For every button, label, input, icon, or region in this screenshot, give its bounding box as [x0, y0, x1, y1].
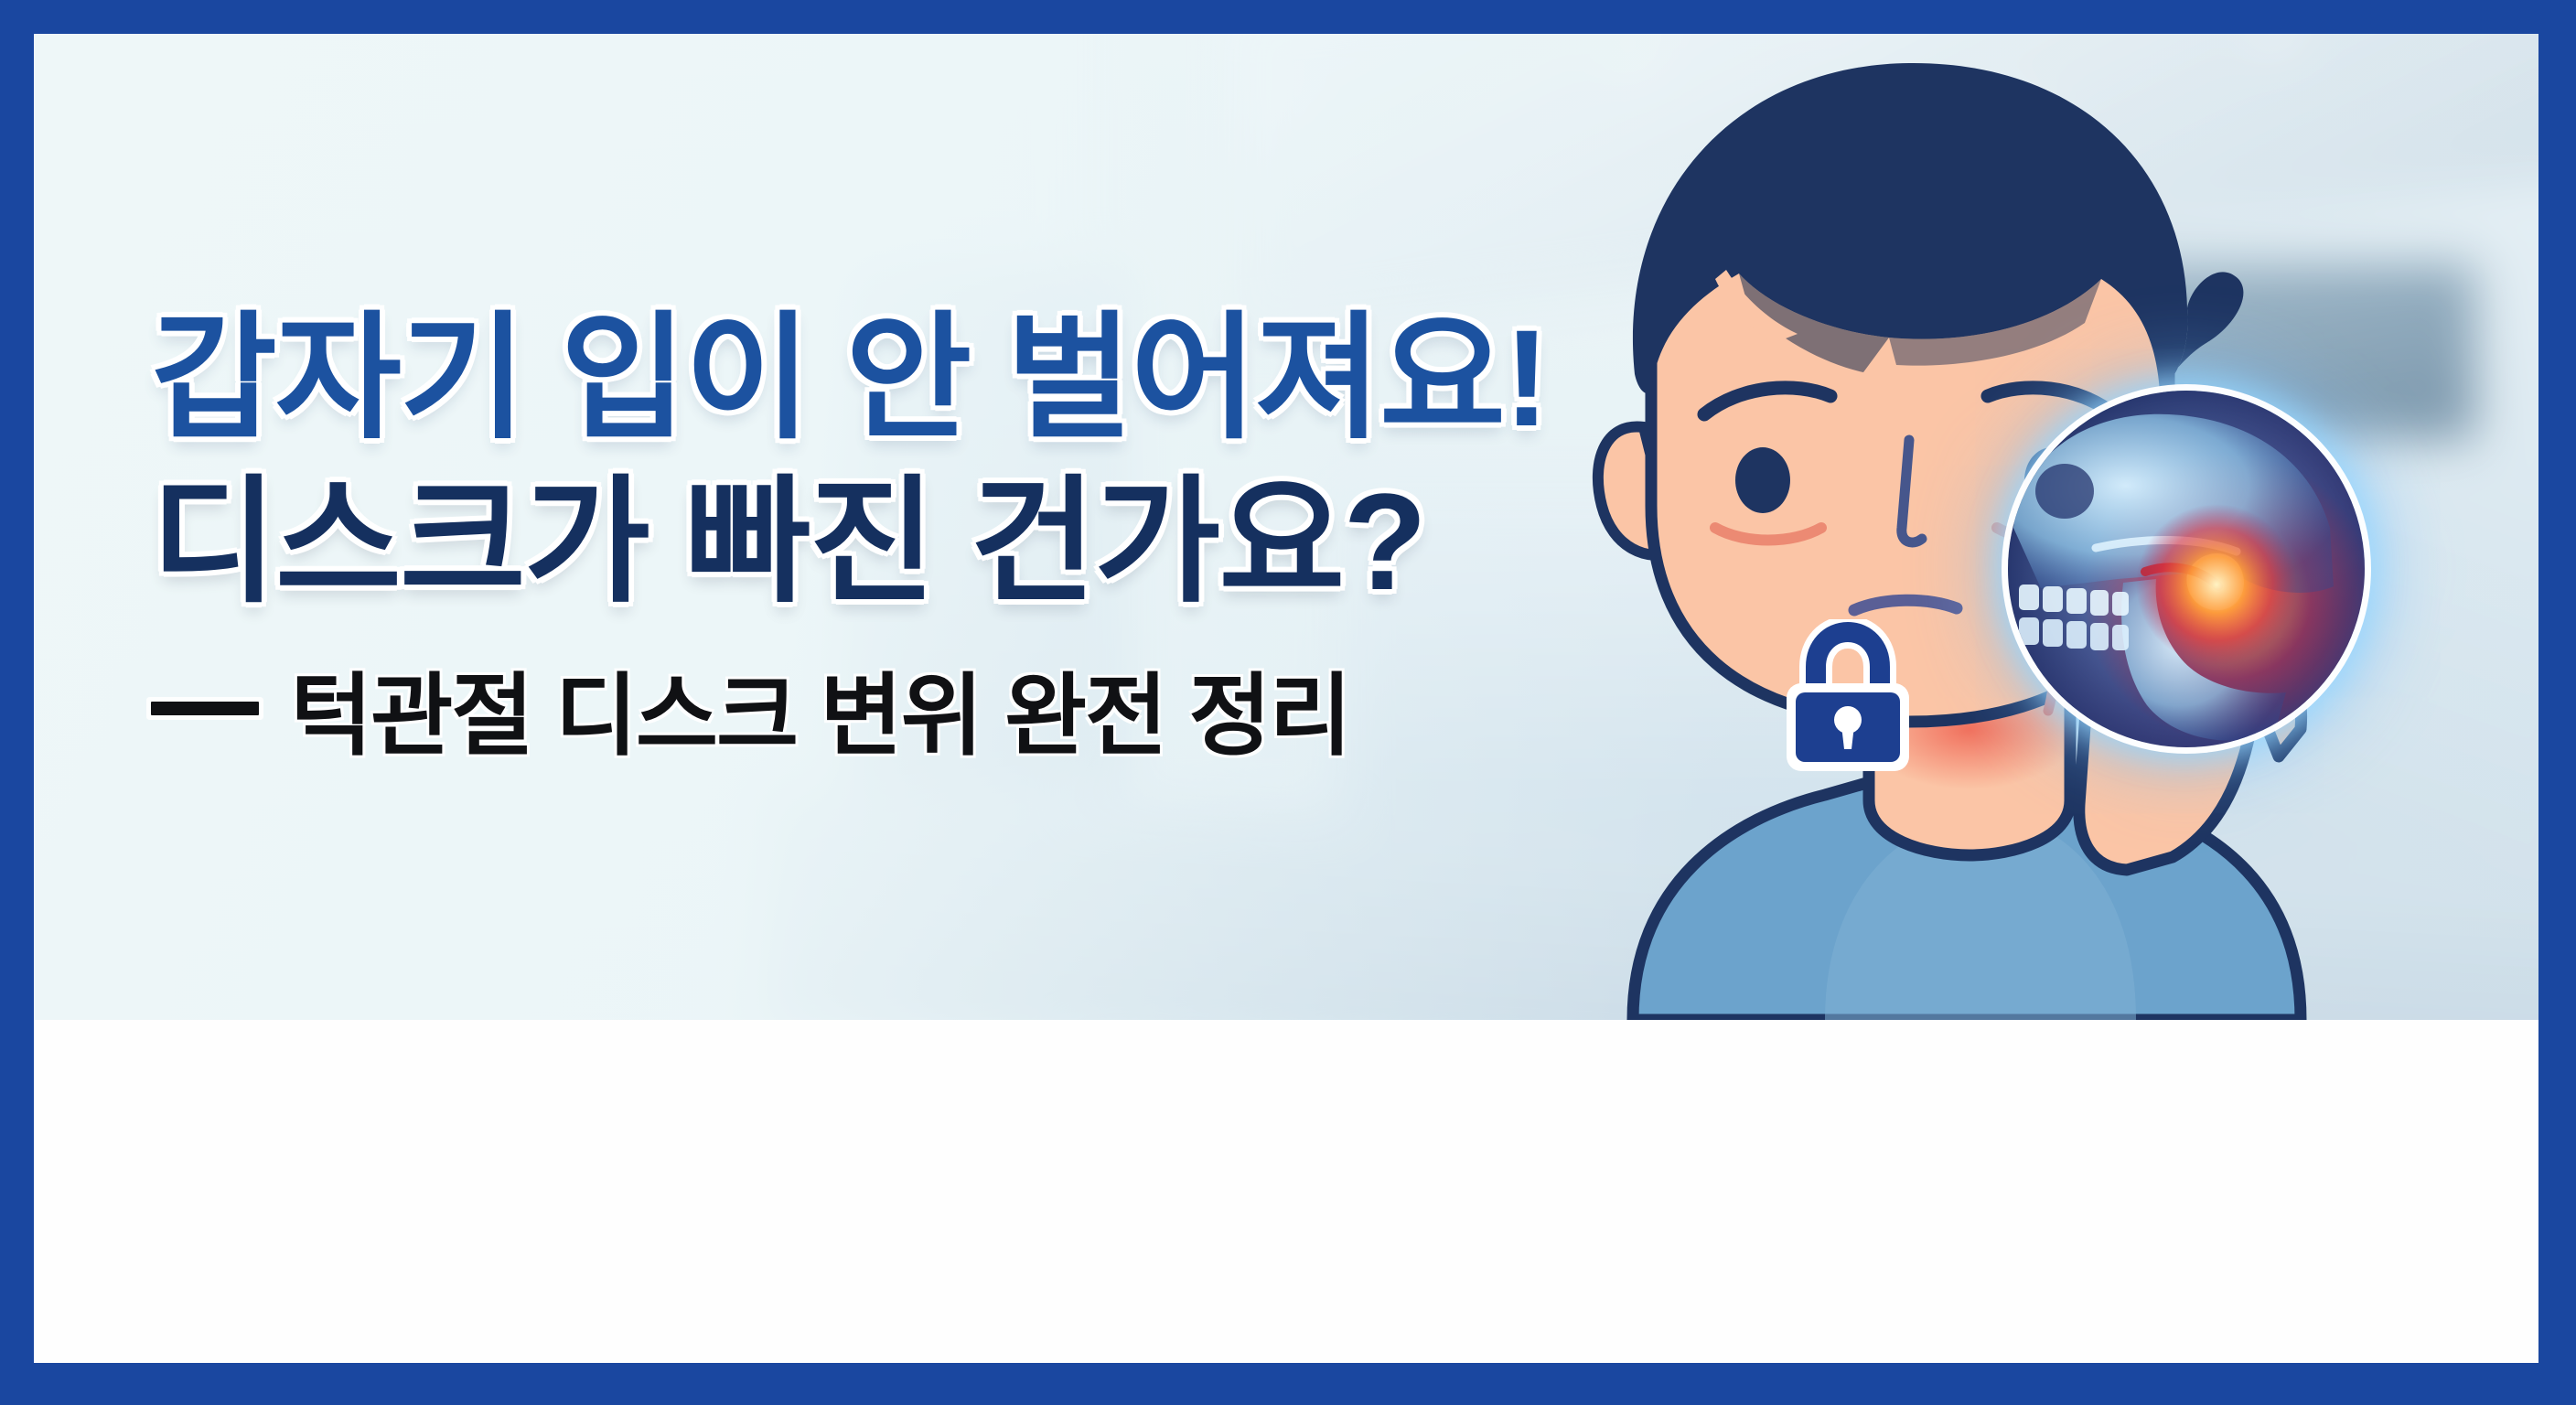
xray-lower-teeth — [2019, 617, 2129, 650]
xray-upper-teeth — [2019, 585, 2129, 616]
content-card: 갑자기 입이 안 벌어져요! 디스크가 빠진 건가요? 턱관절 디스크 변위 완… — [34, 34, 2538, 1363]
lock-icon — [1779, 619, 1916, 780]
headline-line-3: 턱관절 디스크 변위 완전 정리 — [290, 643, 1350, 773]
tmj-xray-svg — [2008, 391, 2365, 747]
xray-inflammation-glow — [2136, 504, 2297, 665]
outer-blue-frame: 갑자기 입이 안 벌어져요! 디스크가 빠진 건가요? 턱관절 디스크 변위 완… — [0, 0, 2576, 1405]
eye-left — [1735, 447, 1790, 513]
headline-line-2: 디스크가 빠진 건가요? — [151, 472, 1724, 612]
lock-shackle — [1816, 632, 1880, 691]
em-dash-rule — [151, 702, 259, 715]
headline-block: 갑자기 입이 안 벌어져요! 디스크가 빠진 건가요? 턱관절 디스크 변위 완… — [151, 308, 1724, 773]
subheadline-row: 턱관절 디스크 변위 완전 정리 — [151, 643, 1724, 773]
headline-line-1: 갑자기 입이 안 벌어져요! — [151, 308, 1724, 448]
xray-eye-socket — [2035, 464, 2094, 519]
hero-banner: 갑자기 입이 안 벌어져요! 디스크가 빠진 건가요? 턱관절 디스크 변위 완… — [34, 34, 2538, 1020]
article-body-area — [34, 1020, 2538, 1363]
tmj-xray-circle — [2008, 391, 2365, 747]
